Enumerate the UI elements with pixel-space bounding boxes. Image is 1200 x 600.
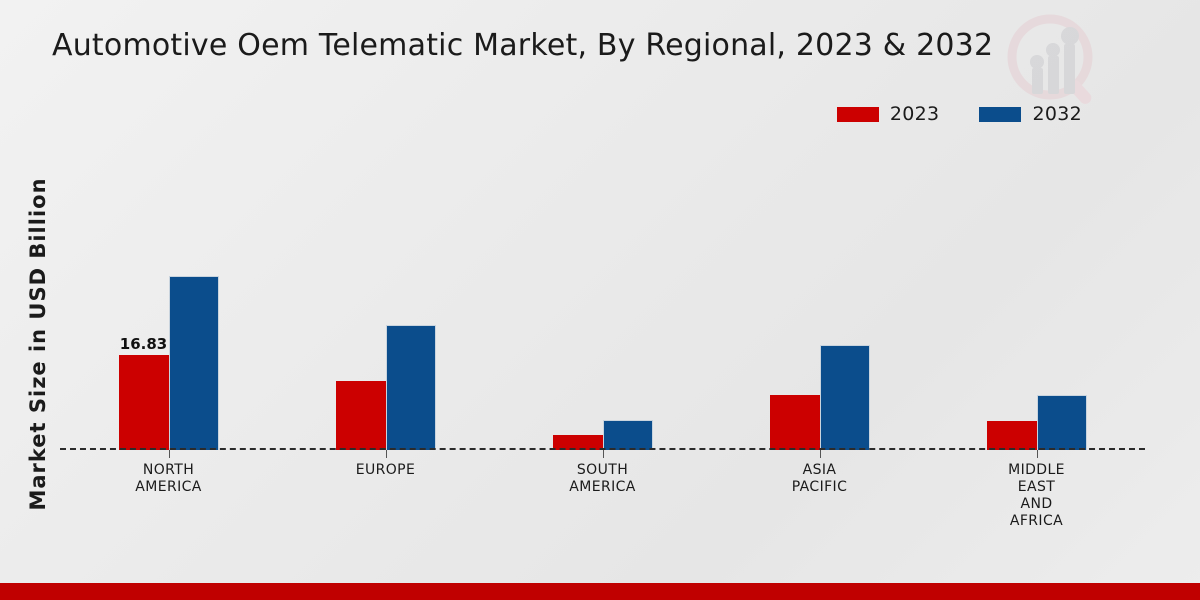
bar-pair bbox=[770, 150, 870, 450]
x-axis-tick bbox=[169, 450, 170, 458]
bar-group: 16.83NORTH AMERICA bbox=[60, 150, 277, 450]
bar-pair bbox=[336, 150, 436, 450]
bar-2032-2[interactable] bbox=[603, 420, 653, 450]
x-axis-category-label: ASIA PACIFIC bbox=[792, 462, 848, 496]
bar-2023-0[interactable]: 16.83 bbox=[119, 355, 169, 450]
x-axis-category-label: MIDDLE EAST AND AFRICA bbox=[1008, 462, 1065, 530]
legend-label-2023: 2023 bbox=[890, 103, 940, 125]
x-axis-tick bbox=[1037, 450, 1038, 458]
chart-canvas: Automotive Oem Telematic Market, By Regi… bbox=[0, 0, 1200, 600]
legend-label-2032: 2032 bbox=[1032, 103, 1082, 125]
bar-group: SOUTH AMERICA bbox=[494, 150, 711, 450]
x-axis-tick bbox=[820, 450, 821, 458]
legend-item-2032[interactable]: 2032 bbox=[979, 103, 1082, 125]
x-axis-category-label: SOUTH AMERICA bbox=[569, 462, 636, 496]
bar-groups: 16.83NORTH AMERICAEUROPESOUTH AMERICAASI… bbox=[60, 150, 1145, 450]
bar-group: MIDDLE EAST AND AFRICA bbox=[928, 150, 1145, 450]
y-axis-title: Market Size in USD Billion bbox=[26, 154, 50, 534]
x-axis-category-label: EUROPE bbox=[356, 462, 416, 479]
bar-2032-4[interactable] bbox=[1037, 395, 1087, 450]
footer-strip bbox=[0, 583, 1200, 600]
x-axis-category-label: NORTH AMERICA bbox=[135, 462, 202, 496]
legend-swatch-2032 bbox=[979, 107, 1021, 122]
x-axis-tick bbox=[603, 450, 604, 458]
bar-2032-0[interactable] bbox=[169, 276, 219, 450]
bar-2032-1[interactable] bbox=[386, 325, 436, 450]
chart-title: Automotive Oem Telematic Market, By Regi… bbox=[52, 28, 1032, 63]
bar-value-label: 16.83 bbox=[120, 335, 167, 353]
x-axis-baseline bbox=[60, 448, 1145, 450]
bar-2023-4[interactable] bbox=[987, 421, 1037, 450]
legend-item-2023[interactable]: 2023 bbox=[837, 103, 940, 125]
bar-2023-3[interactable] bbox=[770, 395, 820, 450]
bar-group: ASIA PACIFIC bbox=[711, 150, 928, 450]
chart-legend: 2023 2032 bbox=[837, 103, 1082, 125]
bar-pair bbox=[553, 150, 653, 450]
legend-swatch-2023 bbox=[837, 107, 879, 122]
bar-group: EUROPE bbox=[277, 150, 494, 450]
x-axis-tick bbox=[386, 450, 387, 458]
bar-2023-1[interactable] bbox=[336, 381, 386, 450]
bar-2032-3[interactable] bbox=[820, 345, 870, 450]
bar-pair bbox=[987, 150, 1087, 450]
bar-pair: 16.83 bbox=[119, 150, 219, 450]
plot-area: 16.83NORTH AMERICAEUROPESOUTH AMERICAASI… bbox=[60, 150, 1145, 450]
